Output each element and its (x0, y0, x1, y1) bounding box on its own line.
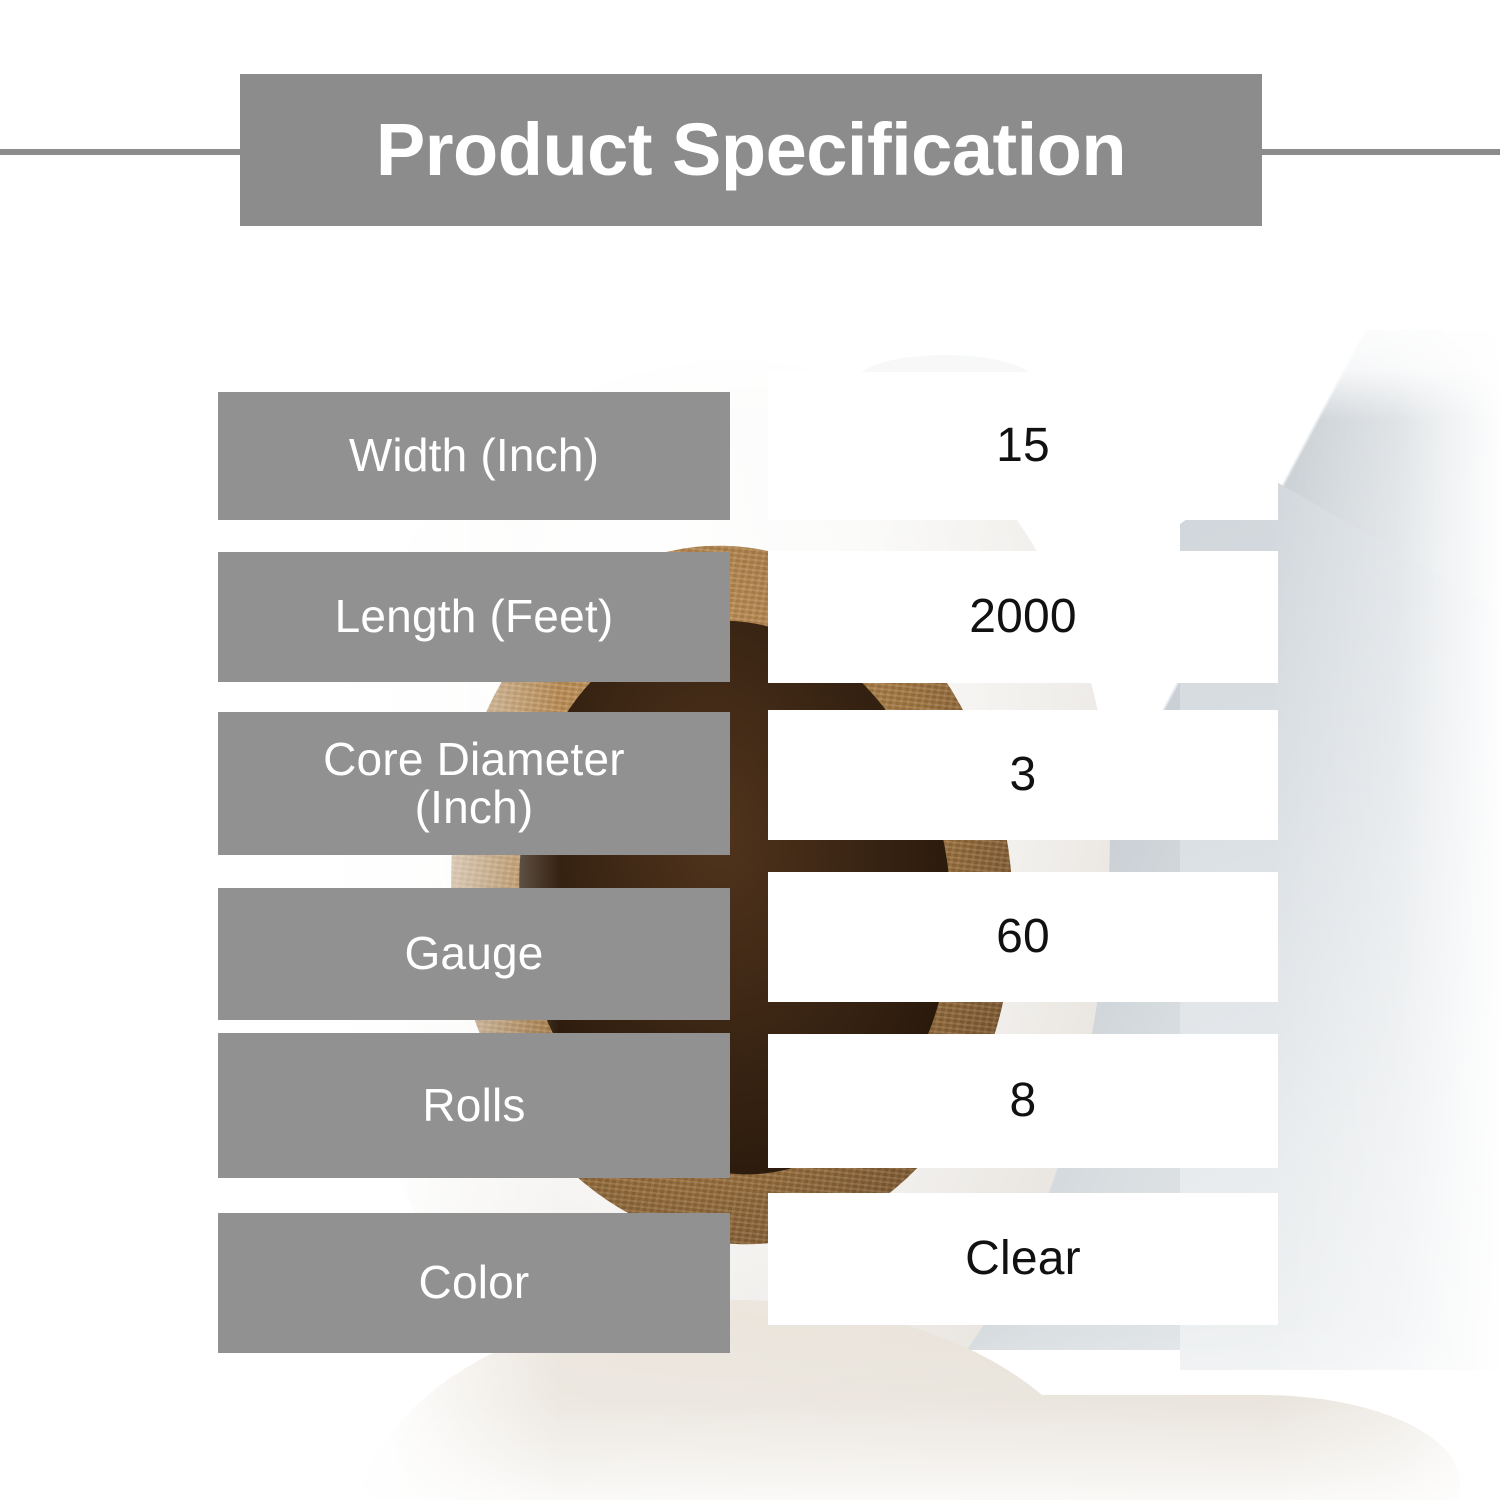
spec-value-text: 15 (996, 421, 1050, 471)
spec-label-text: Length (Feet) (335, 593, 614, 641)
specification-table: Width (Inch) 15 Length (Feet) 2000 Core … (0, 0, 1500, 1500)
spec-label-cell: Length (Feet) (218, 552, 730, 682)
spec-label-cell: Rolls (218, 1033, 730, 1178)
spec-label-cell: Color (218, 1213, 730, 1353)
spec-value-text: Clear (965, 1234, 1081, 1284)
spec-label-cell: Gauge (218, 888, 730, 1020)
spec-value-text: 60 (996, 912, 1050, 962)
spec-value-cell: 8 (768, 1034, 1278, 1168)
spec-value-cell: 2000 (768, 551, 1278, 683)
spec-label-cell: Core Diameter (Inch) (218, 712, 730, 855)
spec-label-text-line1: Core Diameter (323, 736, 625, 784)
spec-label-text-line2: (Inch) (415, 784, 534, 832)
spec-label-text: Rolls (422, 1082, 525, 1130)
spec-value-cell: 60 (768, 872, 1278, 1002)
product-specification-infographic: Product Specification Width (Inch) 15 Le… (0, 0, 1500, 1500)
spec-label-text: Gauge (404, 930, 543, 978)
spec-value-cell: 3 (768, 710, 1278, 840)
spec-label-cell: Width (Inch) (218, 392, 730, 520)
spec-value-cell: Clear (768, 1193, 1278, 1325)
spec-value-cell: 15 (768, 372, 1278, 520)
spec-value-text: 2000 (969, 592, 1077, 642)
spec-label-text: Width (Inch) (349, 432, 599, 480)
spec-value-text: 8 (1010, 1076, 1037, 1126)
spec-label-text: Color (419, 1259, 530, 1307)
spec-value-text: 3 (1010, 750, 1037, 800)
